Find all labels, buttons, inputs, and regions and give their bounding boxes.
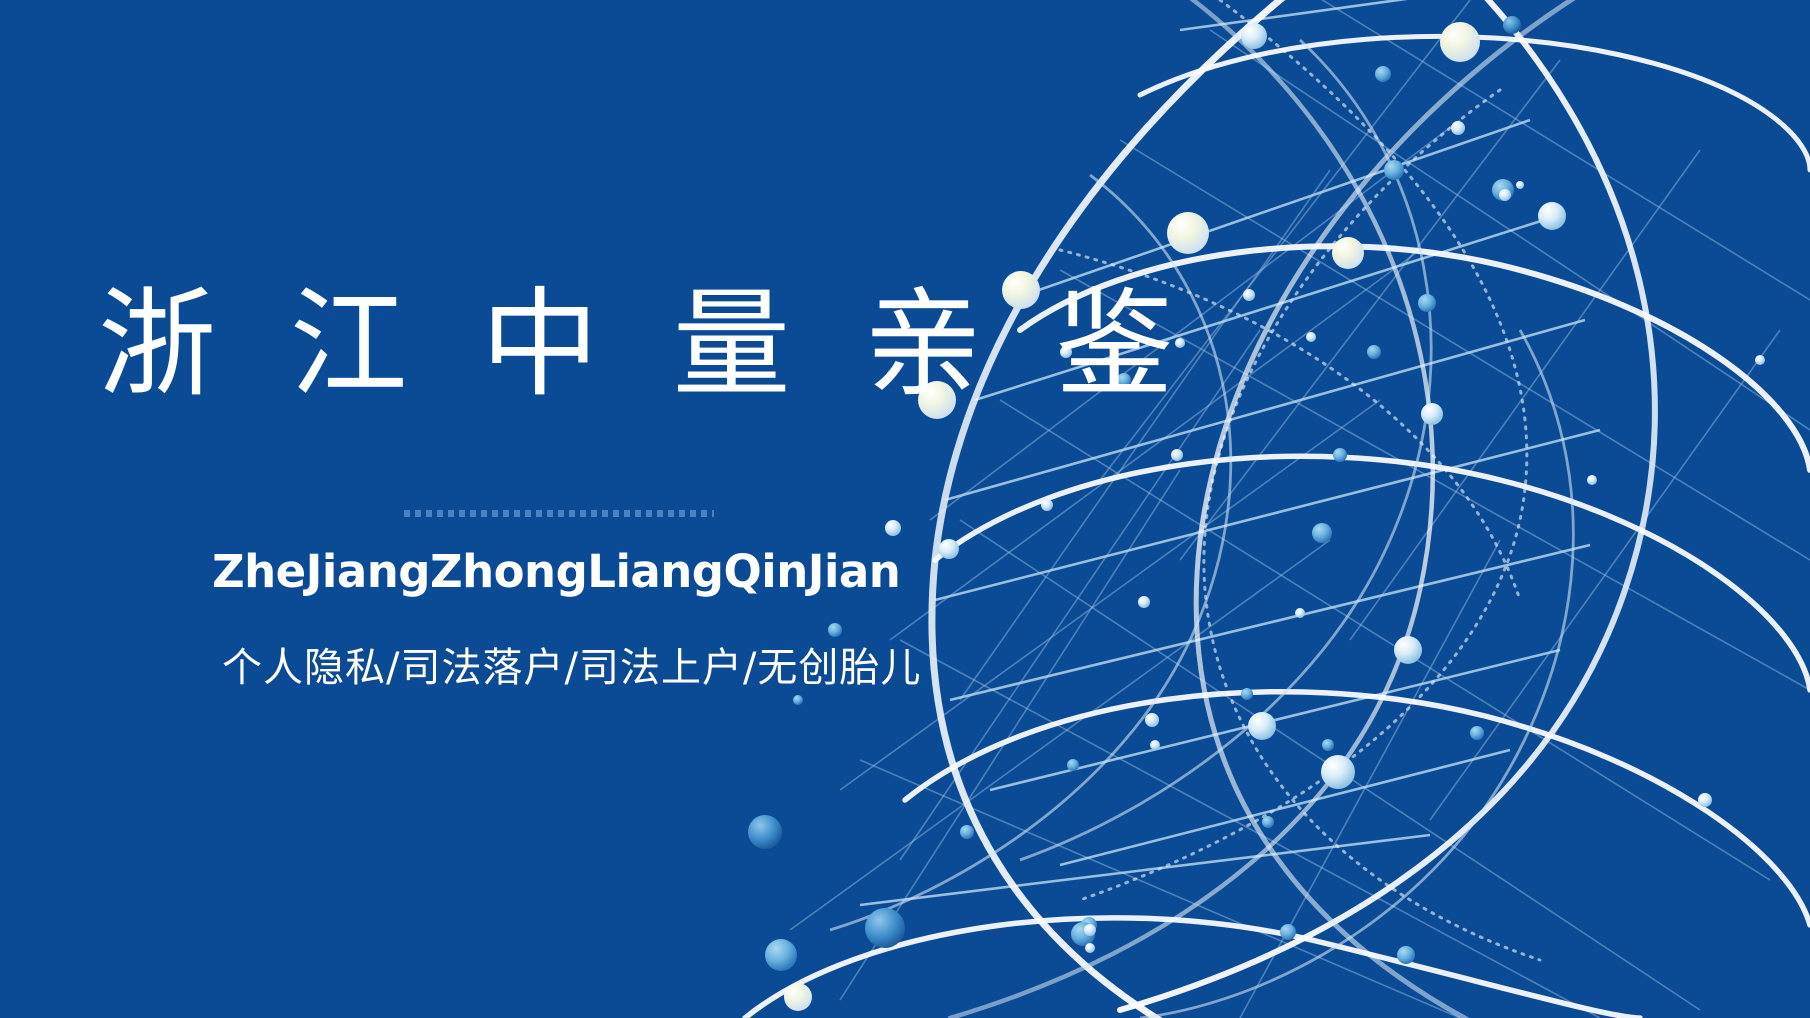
brand-text-block: 浙 江 中 量 亲 鉴 ZheJiangZhongLiangQinJian 个人… [0,0,1000,1018]
page-title: 浙 江 中 量 亲 鉴 [98,285,1192,403]
dotted-divider [404,510,714,517]
brand-tagline: 个人隐私/司法落户/司法上户/无创胎儿 [222,635,921,693]
brand-pinyin: ZheJiangZhongLiangQinJian [212,545,900,598]
helix-strand-secondary [950,0,1620,1018]
brand-banner: 浙 江 中 量 亲 鉴 ZheJiangZhongLiangQinJian 个人… [0,0,1810,1018]
helix-dotted-strands [1060,0,1540,960]
helix-strand-primary [932,0,1655,1018]
